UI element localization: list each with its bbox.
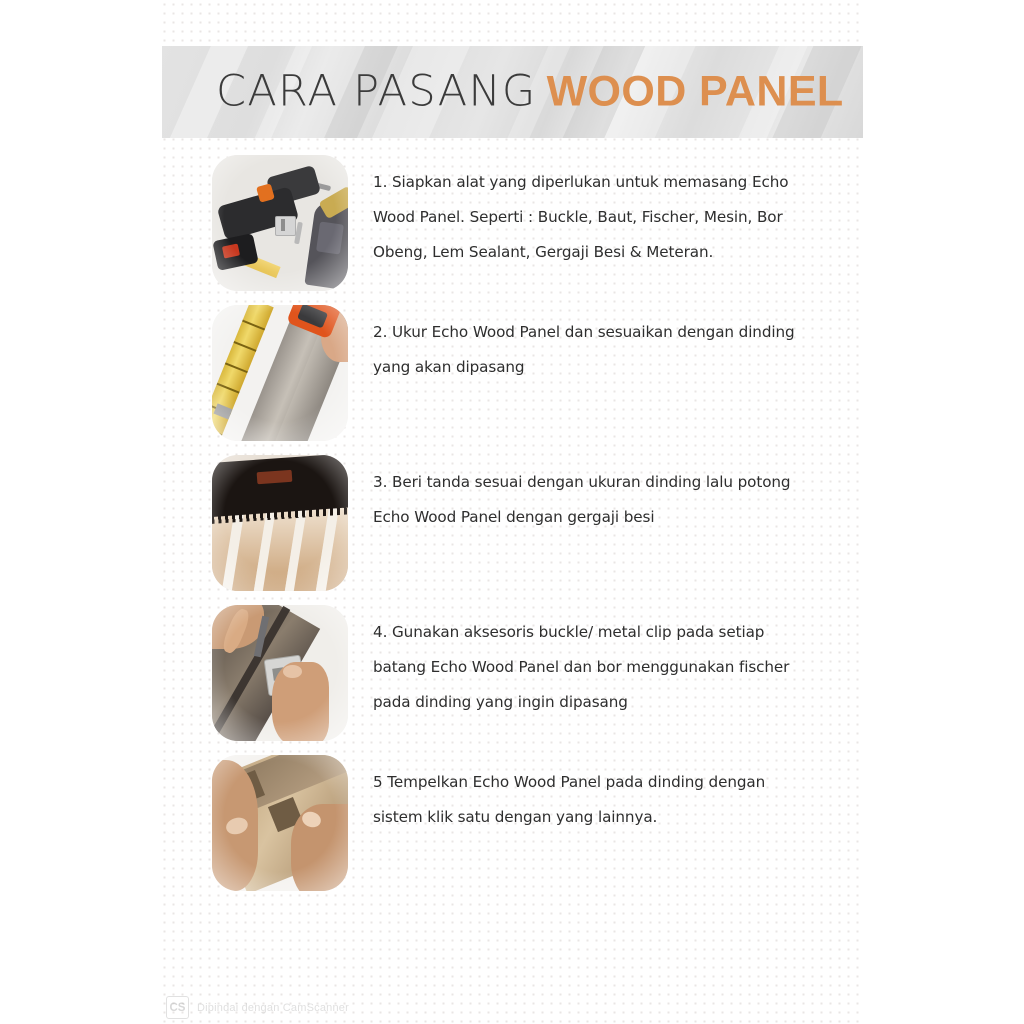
step-4-line-2: batang Echo Wood Panel dan bor menggunak… xyxy=(373,650,789,685)
step-4-line-1: 4. Gunakan aksesoris buckle/ metal clip … xyxy=(373,615,789,650)
ruler-tick xyxy=(217,383,240,394)
step-1-line-2: Wood Panel. Seperti : Buckle, Baut, Fisc… xyxy=(373,200,788,235)
title-plain-part: CARA PASANG xyxy=(216,67,537,117)
camscanner-watermark: CS Dipindai dengan CamScanner xyxy=(166,996,349,1019)
ruler-tick xyxy=(212,425,223,436)
step-5-text: 5 Tempelkan Echo Wood Panel pada dinding… xyxy=(373,755,765,835)
step-item-3: 3. Beri tanda sesuai dengan ukuran dindi… xyxy=(212,455,832,591)
header-banner: CARA PASANGWOOD PANEL xyxy=(162,46,863,138)
step-4-line-3: pada dinding yang ingin dipasang xyxy=(373,685,789,720)
step-1-text: 1. Siapkan alat yang diperlukan untuk me… xyxy=(373,155,788,270)
step-2-text: 2. Ukur Echo Wood Panel dan sesuaikan de… xyxy=(373,305,795,385)
step-5-line-1: 5 Tempelkan Echo Wood Panel pada dinding… xyxy=(373,765,765,800)
title-accent-part: WOOD PANEL xyxy=(547,68,844,116)
camscanner-watermark-text: Dipindai dengan CamScanner xyxy=(197,1002,349,1014)
page-root: CARA PASANGWOOD PANEL 1. Siapkan alat ya… xyxy=(0,0,1024,1024)
step-3-text: 3. Beri tanda sesuai dengan ukuran dindi… xyxy=(373,455,790,535)
camscanner-logo-icon: CS xyxy=(166,996,189,1019)
ruler-tick xyxy=(234,341,257,352)
fingernail-shape xyxy=(283,665,302,679)
step-1-line-3: Obeng, Lem Sealant, Gergaji Besi & Meter… xyxy=(373,235,788,270)
step-2-thumbnail xyxy=(212,305,348,441)
step-4-thumbnail xyxy=(212,605,348,741)
tool-bag-pocket-shape xyxy=(316,221,344,254)
step-item-4: 4. Gunakan aksesoris buckle/ metal clip … xyxy=(212,605,832,741)
step-item-1: 1. Siapkan alat yang diperlukan untuk me… xyxy=(212,155,832,291)
step-item-2: 2. Ukur Echo Wood Panel dan sesuaikan de… xyxy=(212,305,832,441)
step-3-thumbnail xyxy=(212,455,348,591)
metal-clip-slot-shape xyxy=(281,219,285,231)
page-title: CARA PASANGWOOD PANEL xyxy=(216,71,844,114)
step-1-line-1: 1. Siapkan alat yang diperlukan untuk me… xyxy=(373,165,788,200)
step-3-line-1: 3. Beri tanda sesuai dengan ukuran dindi… xyxy=(373,465,790,500)
step-1-thumbnail xyxy=(212,155,348,291)
step-5-line-2: sistem klik satu dengan yang lainnya. xyxy=(373,800,765,835)
ruler-tick xyxy=(242,319,265,330)
step-item-5: 5 Tempelkan Echo Wood Panel pada dinding… xyxy=(212,755,832,891)
saw-blade-shape xyxy=(212,455,348,517)
step-5-thumbnail xyxy=(212,755,348,891)
step-4-text: 4. Gunakan aksesoris buckle/ metal clip … xyxy=(373,605,789,720)
step-2-line-2: yang akan dipasang xyxy=(373,350,795,385)
step-3-line-2: Echo Wood Panel dengan gergaji besi xyxy=(373,500,790,535)
step-2-line-1: 2. Ukur Echo Wood Panel dan sesuaikan de… xyxy=(373,315,795,350)
ruler-tick xyxy=(225,362,248,373)
